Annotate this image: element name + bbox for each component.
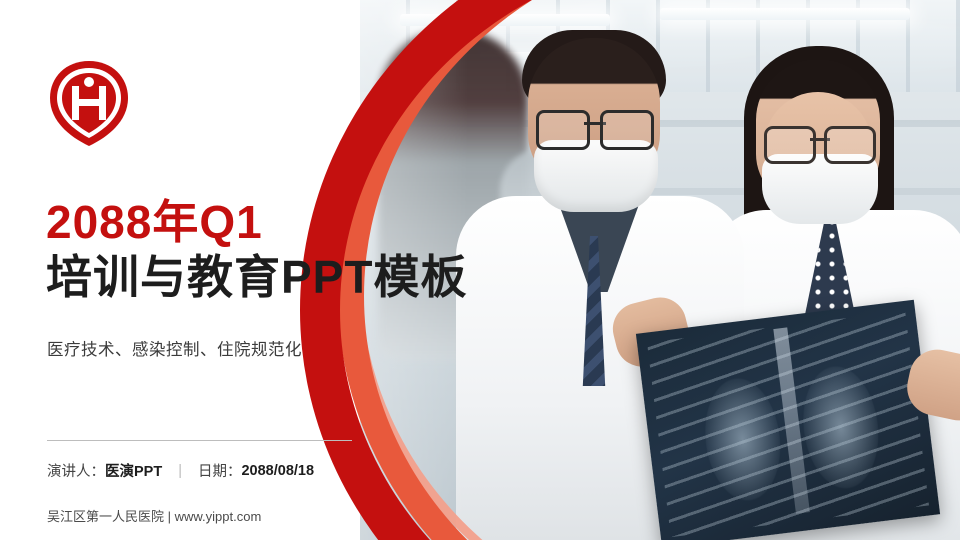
presentation-slide: 2088年Q1 培训与教育PPT模板 医疗技术、感染控制、住院规范化 演讲人： … (0, 0, 960, 540)
divider-line (47, 440, 352, 441)
ceiling-light-bar (660, 8, 910, 20)
date-label: 日期： (198, 460, 242, 481)
male-doctor-glasses (536, 110, 654, 144)
meta-separator: | (178, 463, 182, 479)
speaker-value: 医演PPT (105, 460, 162, 481)
male-doctor-face-mask (534, 140, 658, 212)
female-doctor-glasses (764, 126, 876, 158)
speaker-label: 演讲人： (47, 460, 105, 481)
meta-row: 演讲人： 医演PPT | 日期： 2088/08/18 (47, 460, 314, 481)
female-doctor-face-mask (762, 154, 878, 224)
chest-xray-film (636, 300, 940, 540)
title-line-2: 培训与教育PPT模板 (46, 251, 516, 304)
hospital-cross-logo (46, 58, 132, 148)
title-block: 2088年Q1 培训与教育PPT模板 (46, 196, 516, 304)
glasses-lens-right (600, 110, 654, 150)
glasses-lens-right (824, 126, 876, 164)
ceiling-light-bar (400, 14, 610, 26)
title-line-1: 2088年Q1 (46, 196, 516, 249)
glasses-lens-left (764, 126, 816, 164)
footer-text: 吴江区第一人民医院 | www.yippt.com (47, 506, 261, 525)
date-value: 2088/08/18 (241, 463, 314, 479)
subtitle: 医疗技术、感染控制、住院规范化 (47, 336, 302, 360)
glasses-lens-left (536, 110, 590, 150)
